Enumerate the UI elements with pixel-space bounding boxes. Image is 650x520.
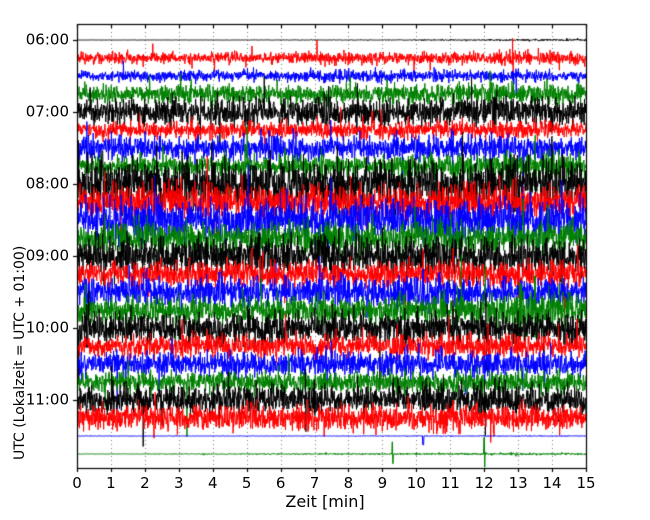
x-tick-label: 4 (208, 476, 218, 491)
x-tick-label: 13 (509, 476, 528, 491)
x-tick-label: 2 (140, 476, 150, 491)
x-tick-label: 10 (407, 476, 426, 491)
y-tick-label: 06:00 (26, 33, 69, 48)
x-tick-label: 9 (378, 476, 388, 491)
x-tick-label: 8 (344, 476, 354, 491)
x-tick-label: 11 (441, 476, 460, 491)
y-tick-label: 11:00 (26, 393, 69, 408)
x-tick-label: 6 (276, 476, 286, 491)
y-axis-title: UTC (Lokalzeit = UTC + 01:00) (12, 246, 28, 460)
x-tick-label: 3 (174, 476, 184, 491)
y-tick-label: 08:00 (26, 177, 69, 192)
x-tick-label: 7 (310, 476, 320, 491)
helicorder-plot-canvas (0, 0, 650, 520)
x-tick-label: 12 (475, 476, 494, 491)
y-tick-label: 09:00 (26, 249, 69, 264)
x-tick-label: 5 (242, 476, 252, 491)
x-tick-label: 0 (72, 476, 82, 491)
seismogram-figure: 06:0007:0008:0009:0010:0011:00 012345678… (0, 0, 650, 520)
x-tick-label: 1 (106, 476, 116, 491)
x-axis-title: Zeit [min] (0, 492, 650, 511)
x-tick-label: 15 (576, 476, 595, 491)
y-tick-label: 07:00 (26, 105, 69, 120)
x-tick-label: 14 (543, 476, 562, 491)
y-tick-label: 10:00 (26, 321, 69, 336)
